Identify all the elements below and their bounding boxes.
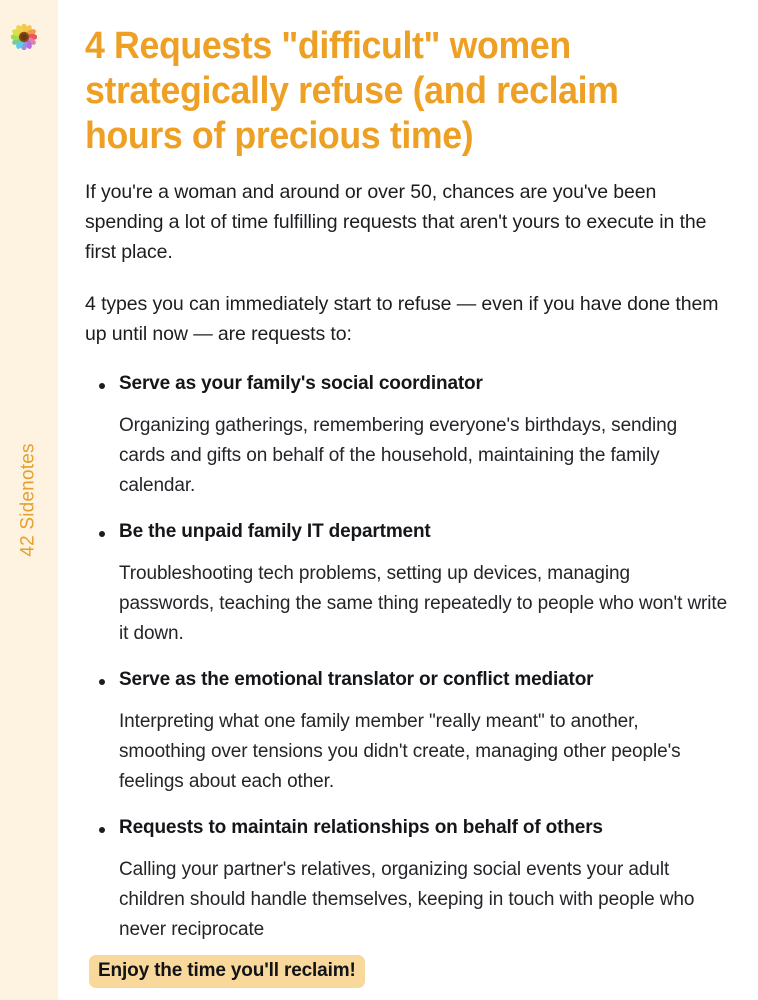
intro-paragraph-1: If you're a woman and around or over 50,… — [85, 177, 728, 267]
list-item-body: Interpreting what one family member "rea… — [119, 707, 728, 797]
refuse-requests-list: Serve as your family's social coordinato… — [85, 371, 728, 945]
list-item-body: Troubleshooting tech problems, setting u… — [119, 559, 728, 649]
list-item: Serve as the emotional translator or con… — [85, 667, 728, 797]
list-item-heading: Requests to maintain relationships on be… — [119, 815, 728, 841]
intro-paragraph-2: 4 types you can immediately start to ref… — [85, 289, 728, 349]
page-title: 4 Requests "difficult" women strategical… — [85, 24, 689, 159]
bullet-dot-icon — [99, 531, 105, 537]
bullet-dot-icon — [99, 679, 105, 685]
footer-callout: Enjoy the time you'll reclaim! — [89, 955, 365, 988]
list-item: Requests to maintain relationships on be… — [85, 815, 728, 945]
bullet-dot-icon — [99, 827, 105, 833]
list-item-heading: Be the unpaid family IT department — [119, 519, 728, 545]
sidebar-label-text: 42 Sidenotes — [18, 443, 40, 556]
flower-logo-icon[interactable] — [11, 24, 37, 50]
bullet-dot-icon — [99, 383, 105, 389]
list-item-heading: Serve as the emotional translator or con… — [119, 667, 728, 693]
list-item-body: Organizing gatherings, remembering every… — [119, 411, 728, 501]
sidebar: 42 Sidenotes — [0, 0, 58, 1000]
sidebar-vertical-label: 42 Sidenotes — [0, 0, 58, 1000]
list-item: Serve as your family's social coordinato… — [85, 371, 728, 501]
list-item-body: Calling your partner's relatives, organi… — [119, 855, 728, 945]
list-item-heading: Serve as your family's social coordinato… — [119, 371, 728, 397]
article-page: 42 Sidenotes 4 Requests "difficult" wome… — [0, 0, 758, 1000]
list-item: Be the unpaid family IT department Troub… — [85, 519, 728, 649]
article-content: 4 Requests "difficult" women strategical… — [58, 0, 758, 1000]
footer-callout-wrap: Enjoy the time you'll reclaim! — [85, 955, 728, 988]
